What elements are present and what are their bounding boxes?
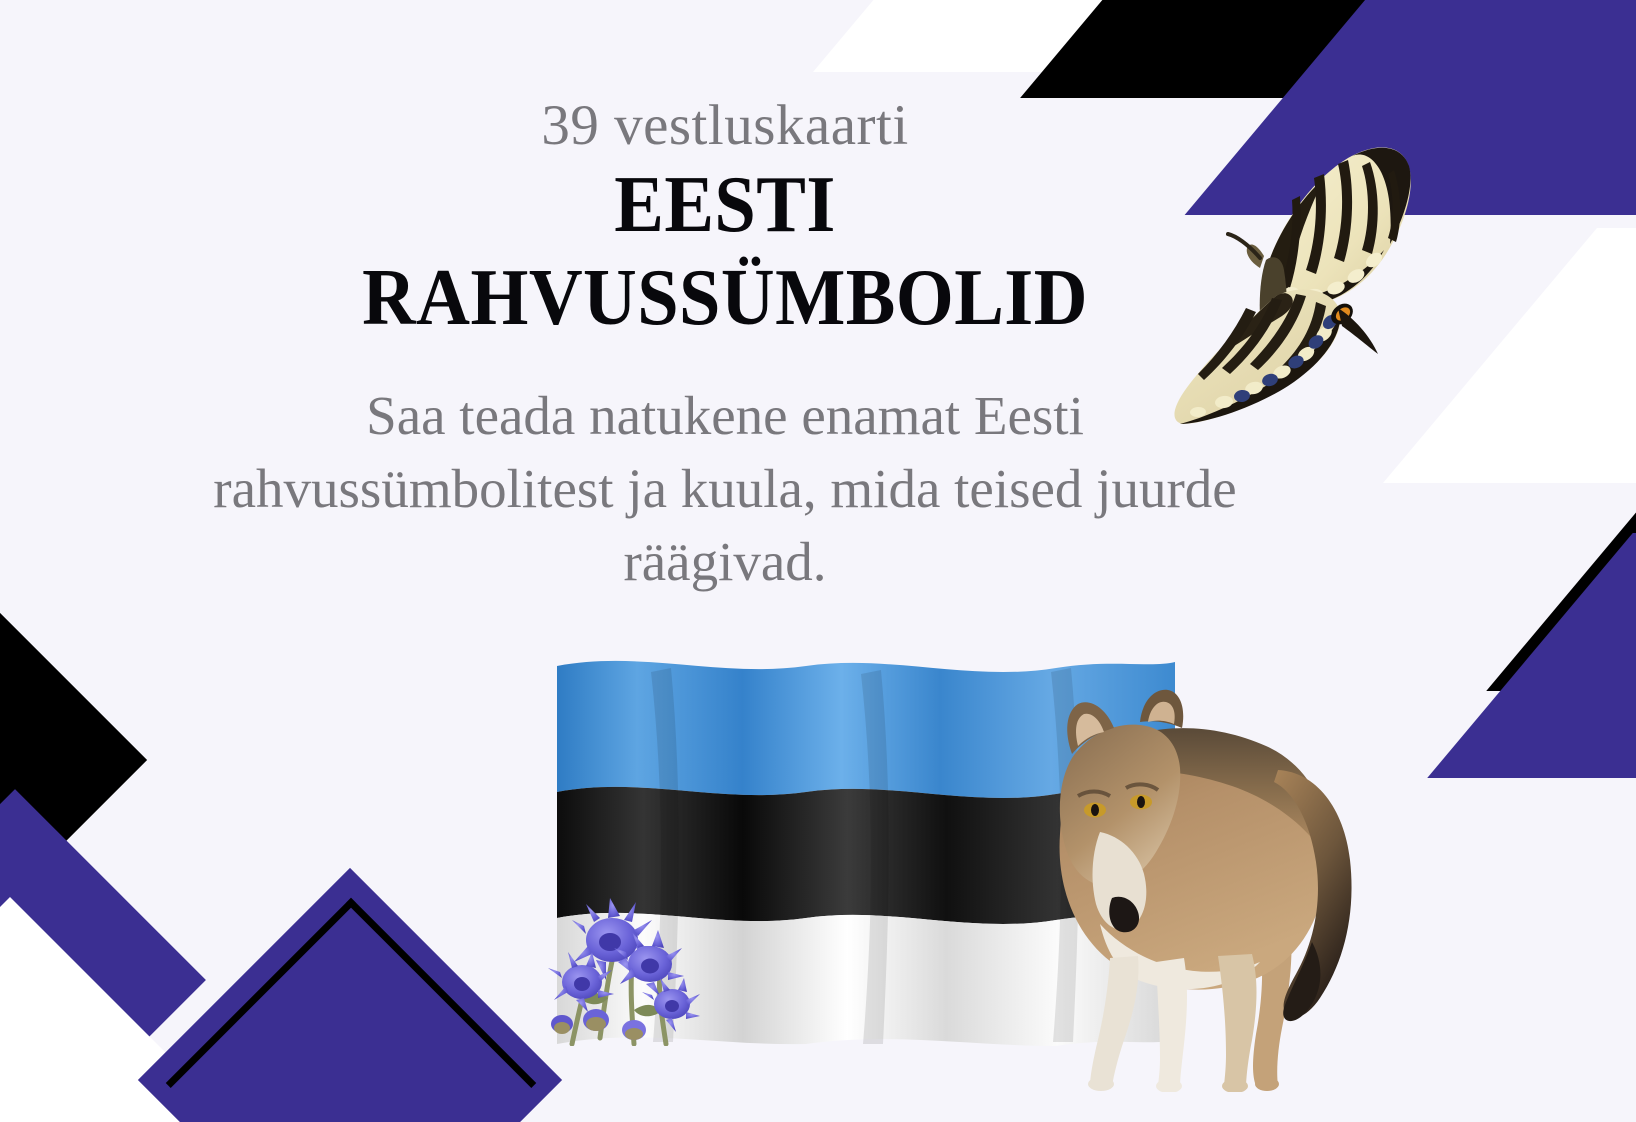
card-count-eyebrow: 39 vestluskaarti [150,96,1300,156]
grey-wolf-image [960,662,1370,1092]
page-subtitle: Saa teada natukene enamat Eesti rahvussü… [150,379,1300,598]
poster-canvas: 39 vestluskaarti EESTI RAHVUSSÜMBOLID Sa… [0,0,1636,1122]
cornflowers-image [538,848,728,1046]
headline-block: 39 vestluskaarti EESTI RAHVUSSÜMBOLID Sa… [150,96,1300,599]
right-purple-parallelogram [1427,533,1636,778]
page-title-line-1: EESTI [190,162,1260,248]
page-title-line-2: RAHVUSSÜMBOLID [190,255,1260,341]
